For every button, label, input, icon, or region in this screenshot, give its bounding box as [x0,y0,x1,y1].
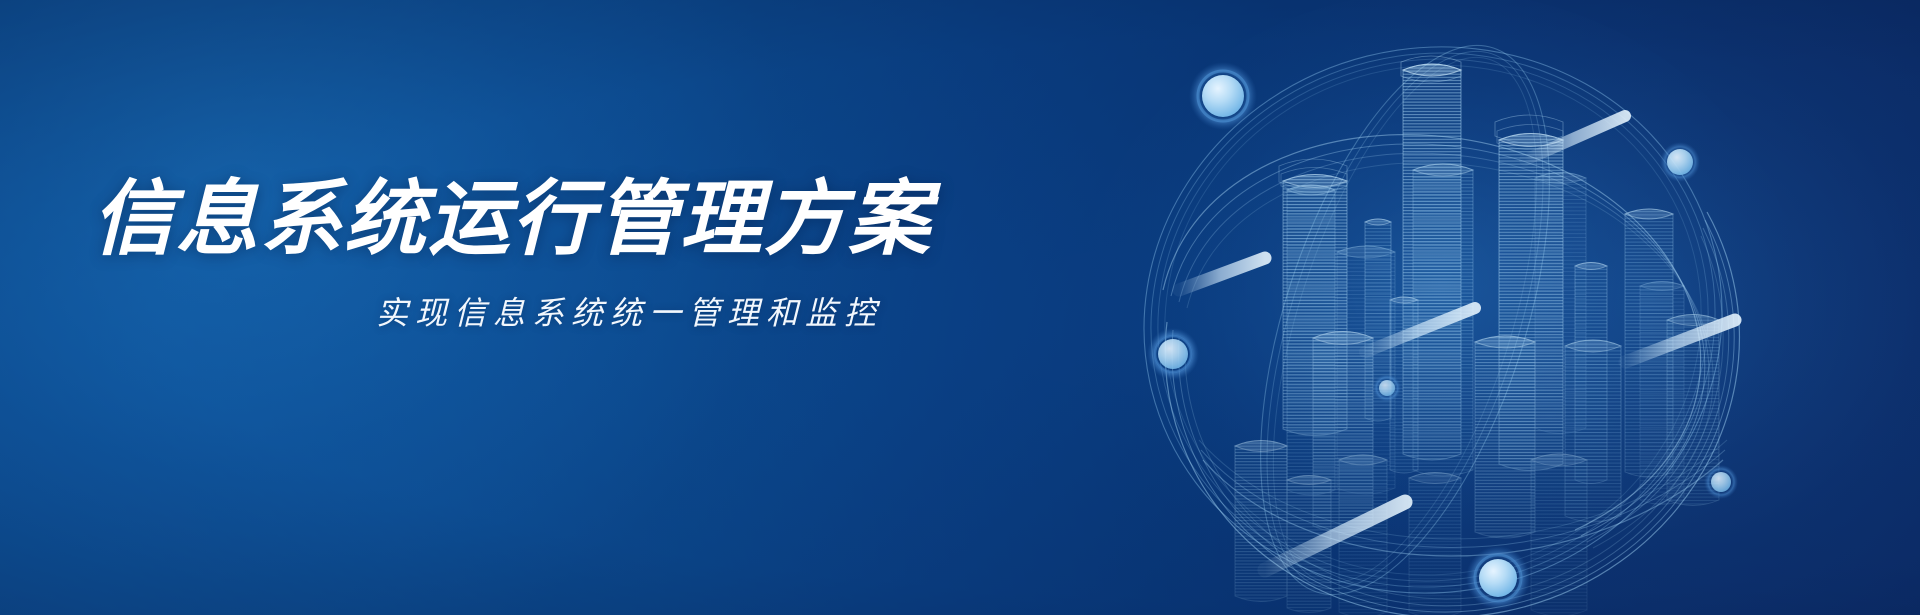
tower-10 [1475,336,1535,538]
tower-14-front [1235,441,1287,602]
wireframe-city-graphic [935,0,1920,615]
page-subtitle: 实现信息系统统一管理和监控 [92,288,992,334]
banner-text-block: 信息系统运行管理方案 实现信息系统统一管理和监控 [92,178,992,334]
page-title: 信息系统运行管理方案 [92,178,992,262]
glow-dot-bottom [1466,546,1530,610]
glow-dot-right-upper [1660,142,1700,182]
banner-root: 信息系统运行管理方案 实现信息系统统一管理和监控 [0,0,1920,615]
glow-dot-top-left [1189,62,1257,130]
tower-17-front [1409,473,1461,615]
glow-dot-right-lower [1704,465,1738,499]
glow-dot-small-mid [1373,374,1401,402]
glow-dot-mid-left [1147,328,1199,380]
